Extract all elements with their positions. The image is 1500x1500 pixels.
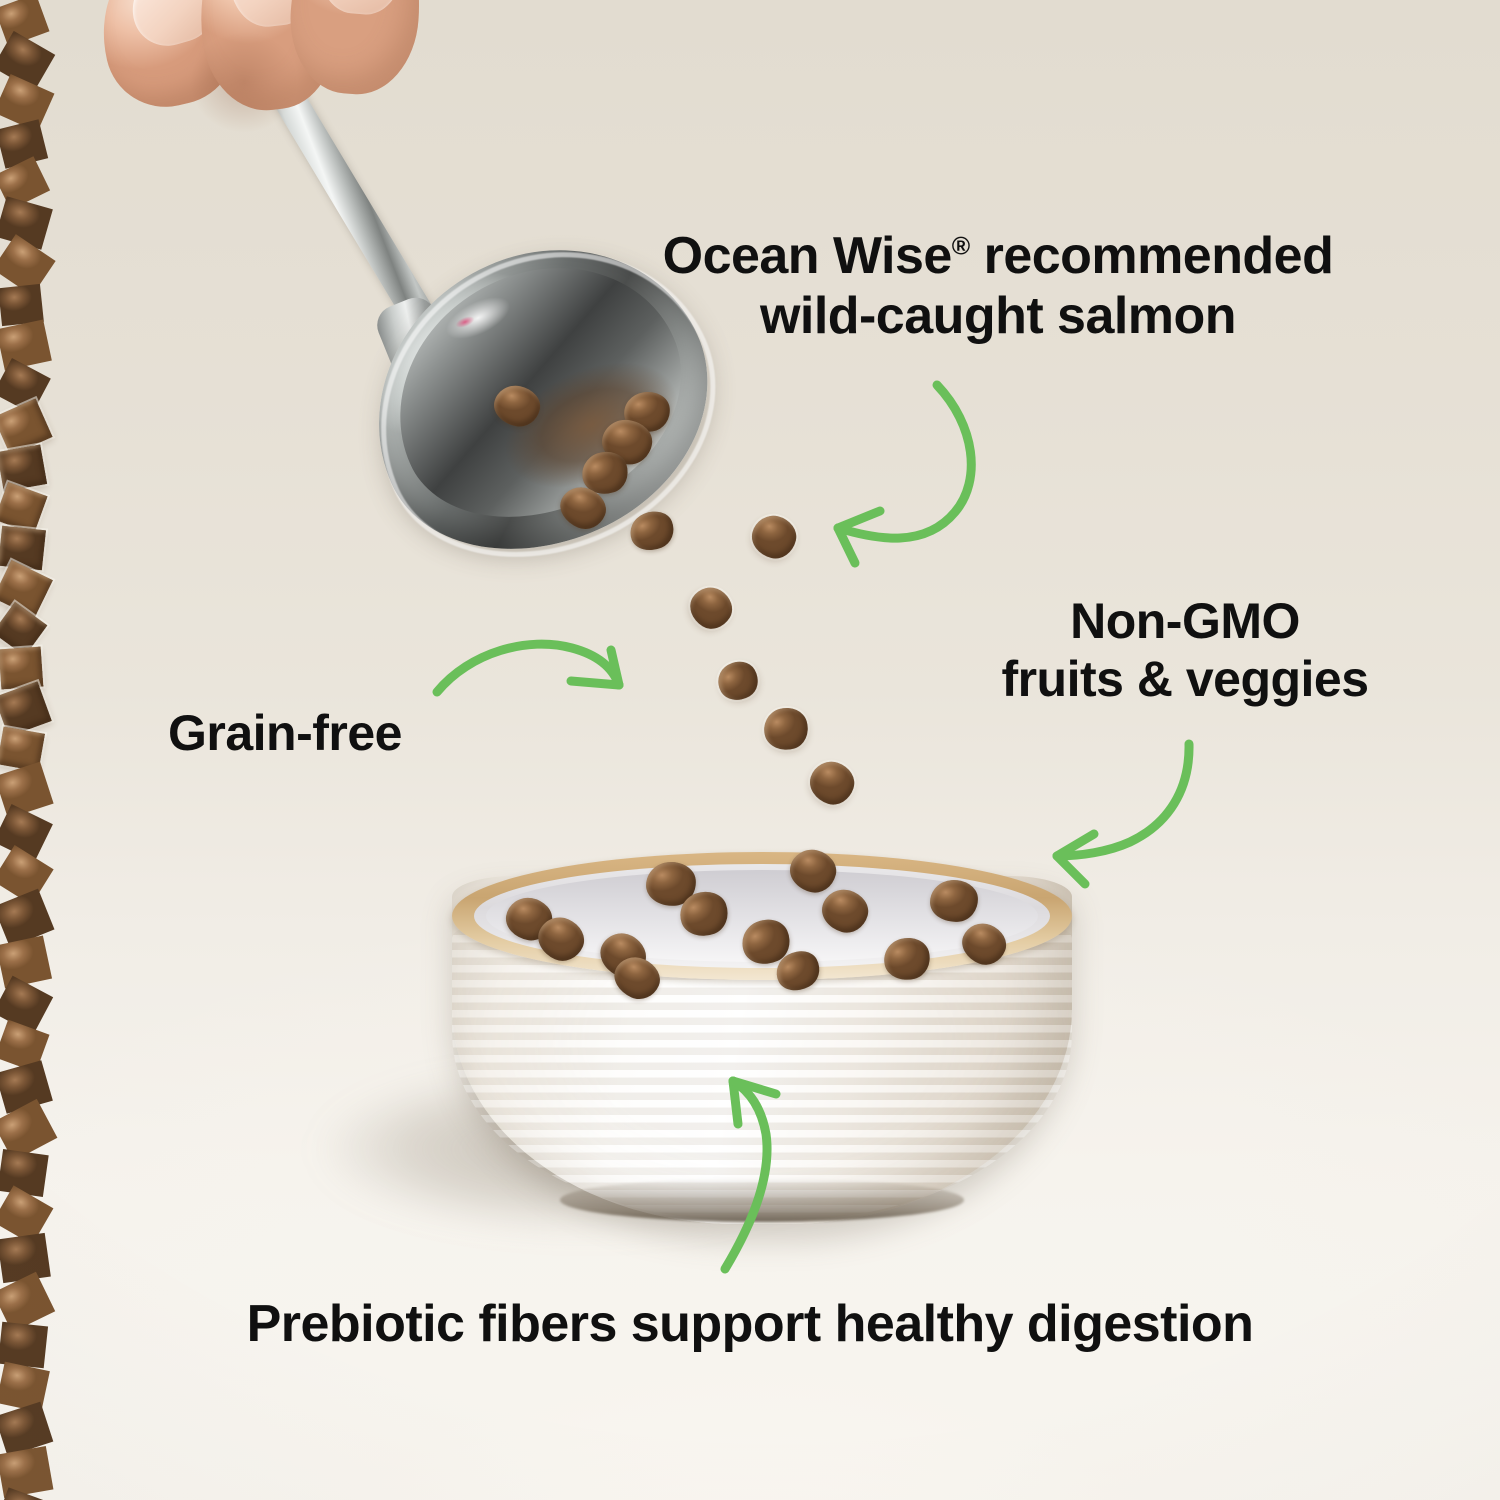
vignette-overlay [0,0,1500,1500]
product-feature-image: Ocean Wise® recommended wild-caught salm… [0,0,1500,1500]
